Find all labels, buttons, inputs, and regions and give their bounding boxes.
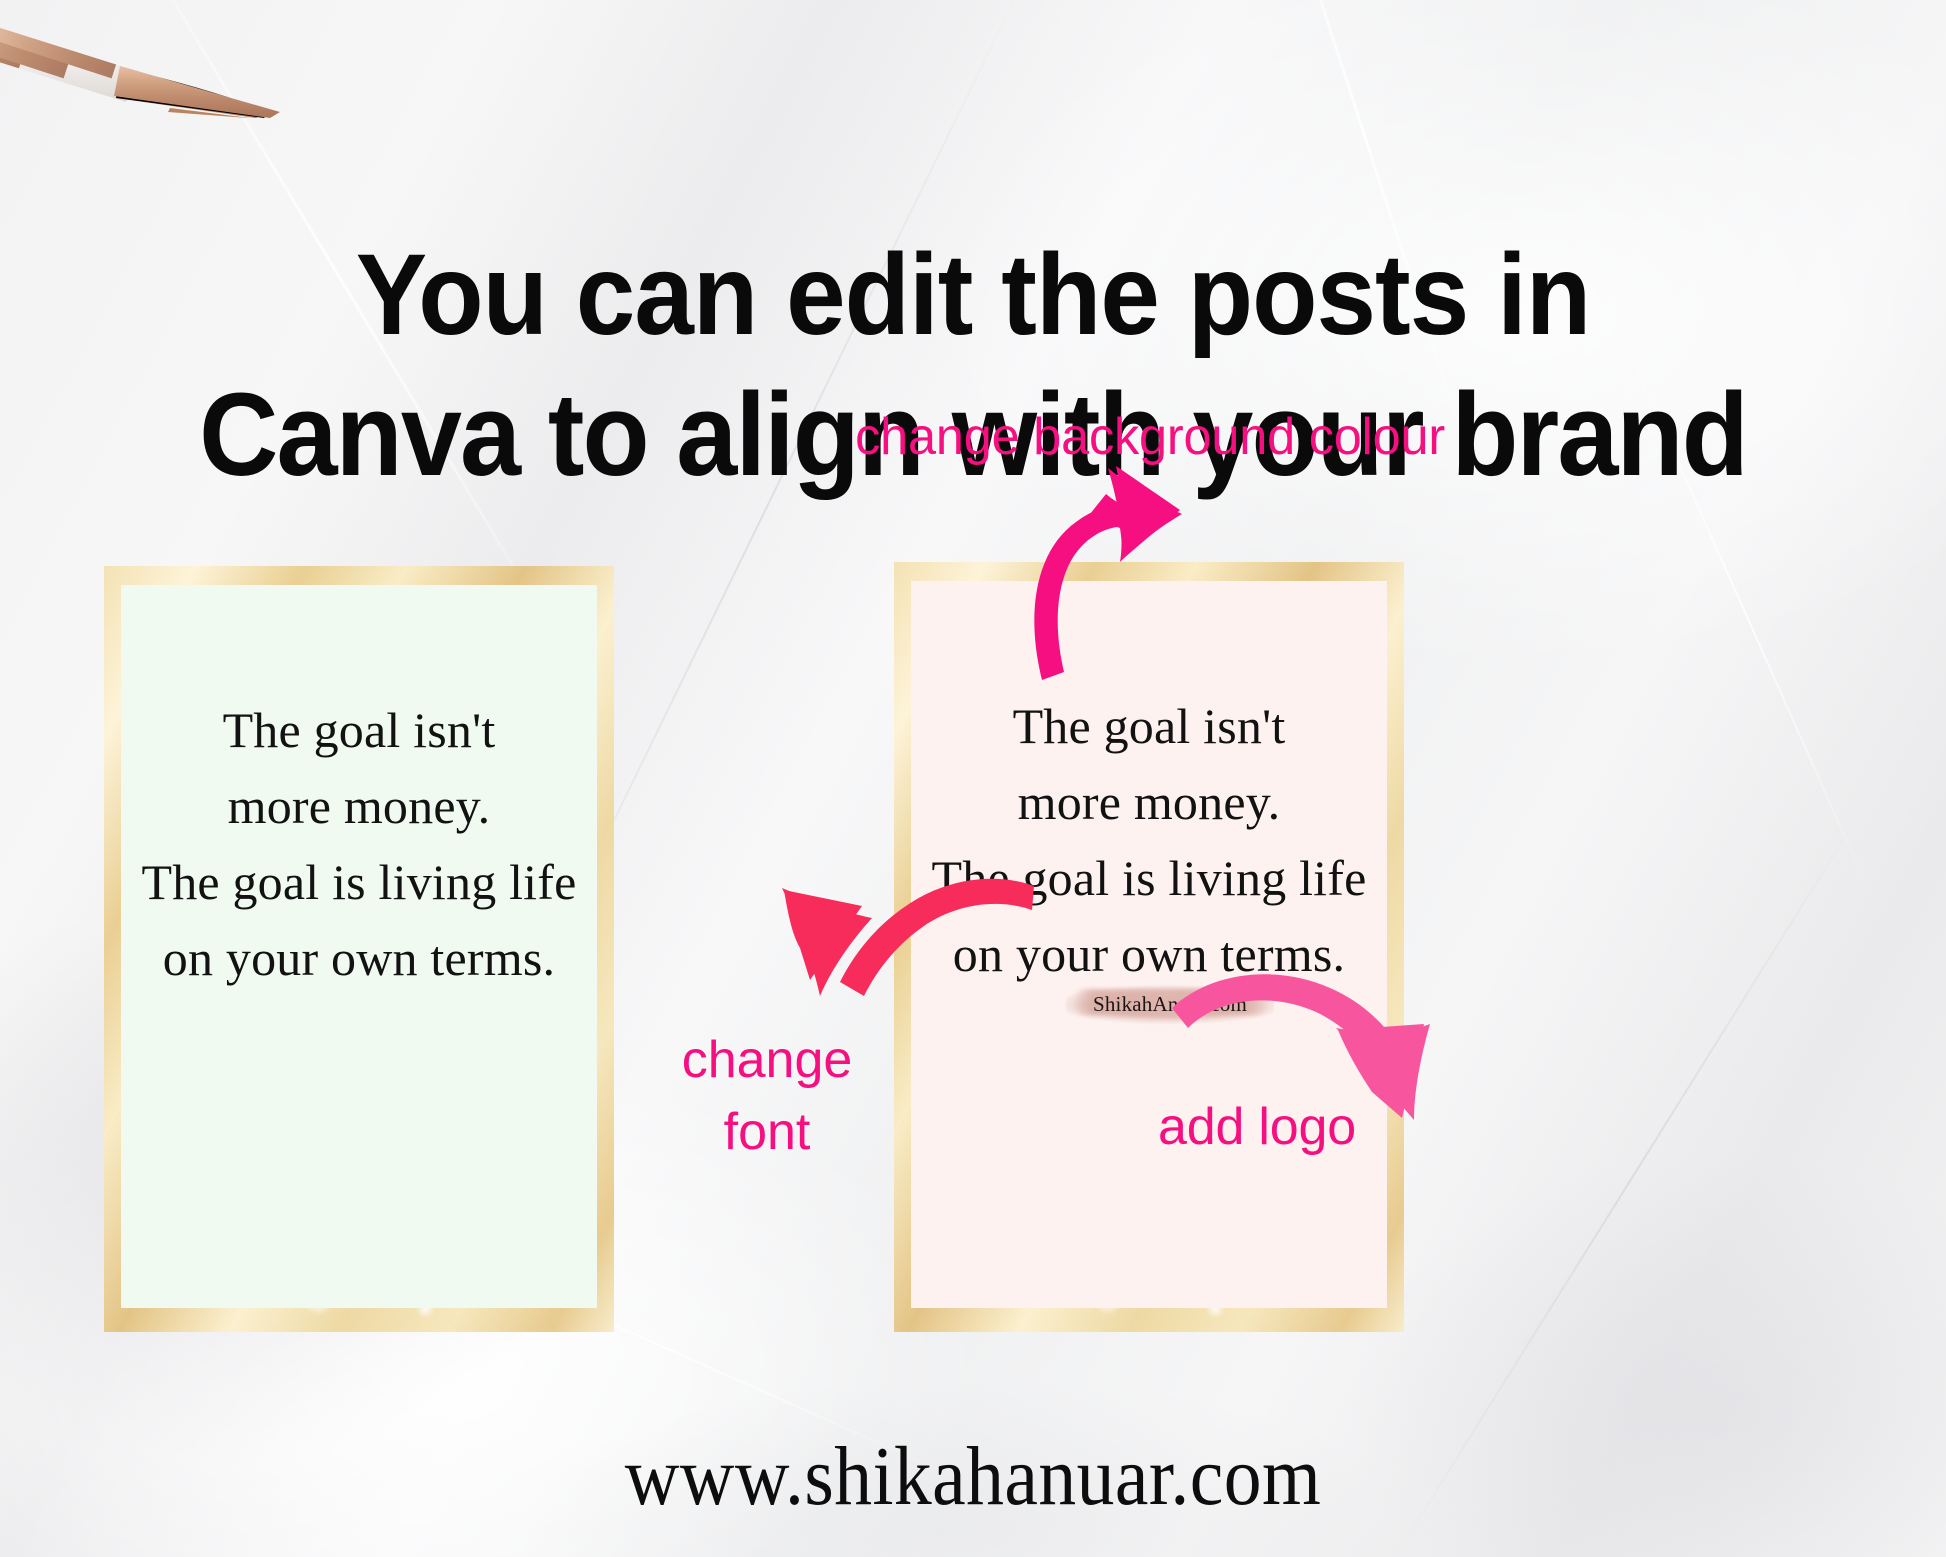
original-post-card[interactable]: The goal isn't more money. The goal is l…	[104, 566, 614, 1332]
quote-line: The goal isn't	[916, 688, 1382, 764]
brand-logo: ShikahAnuar.com	[1066, 984, 1274, 1024]
edited-post-card[interactable]: The goal isn't more money. The goal is l…	[894, 562, 1404, 1332]
quote-line: on your own terms.	[128, 920, 590, 996]
quote-line: The goal isn't	[128, 692, 590, 768]
footer-url: www.shikahanuar.com	[97, 1428, 1848, 1525]
card-quote-text: The goal isn't more money. The goal is l…	[104, 692, 614, 996]
card-quote-text: The goal isn't more money. The goal is l…	[894, 688, 1404, 992]
poster-canvas: You can edit the posts in Canva to align…	[0, 0, 1946, 1557]
annotation-add-logo-label: add logo	[1158, 1097, 1356, 1157]
quote-line: more money.	[128, 768, 590, 844]
quote-line: The goal is living life	[916, 840, 1382, 916]
title-line-1: You can edit the posts in	[356, 231, 1591, 359]
quote-line: The goal is living life	[128, 844, 590, 920]
quote-line: more money.	[916, 764, 1382, 840]
annotation-change-background-label: change background colour	[855, 407, 1445, 467]
logo-text: ShikahAnuar.com	[1066, 984, 1274, 1024]
annotation-change-font-label: change font	[664, 1024, 870, 1168]
quote-line: on your own terms.	[916, 916, 1382, 992]
pen-icon	[0, 0, 304, 118]
